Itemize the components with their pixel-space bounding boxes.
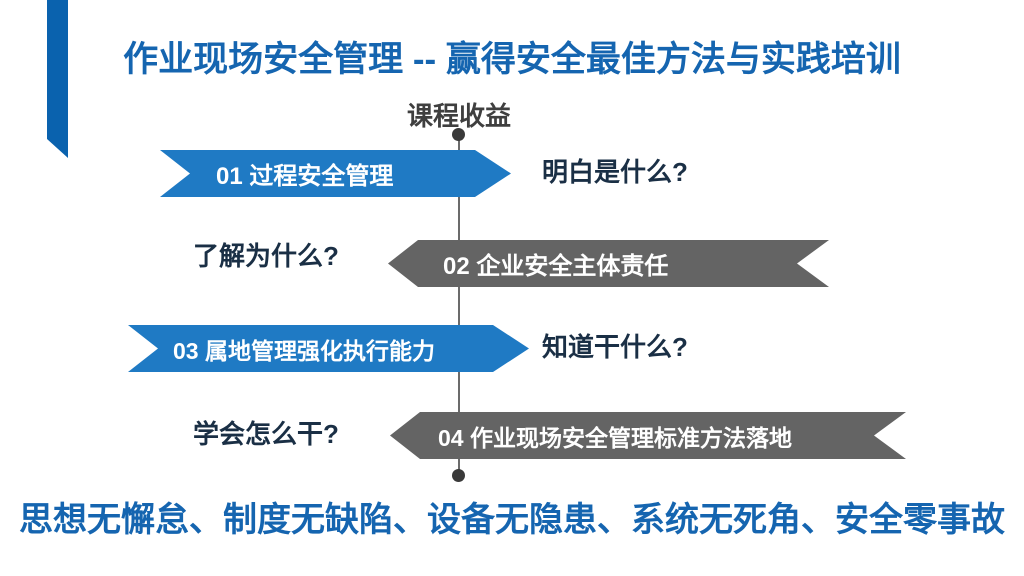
benefit-arrow-02[interactable]: 02 企业安全主体责任 bbox=[388, 240, 829, 287]
benefit-caption-02: 了解为什么? bbox=[193, 242, 363, 272]
benefit-arrow-03-label: 03 属地管理强化执行能力 bbox=[128, 332, 435, 366]
page-title-sub: 赢得安全最佳方法与实践培训 bbox=[446, 40, 901, 79]
bottom-slogan: 思想无懈怠、制度无缺陷、设备无隐患、系统无死角、安全零事故 bbox=[0, 492, 1024, 541]
spine-dot-top bbox=[452, 128, 465, 141]
slide-canvas: 作业现场安全管理 -- 赢得安全最佳方法与实践培训 课程收益 01 过程安全管理… bbox=[0, 0, 1024, 576]
benefit-caption-01: 明白是什么? bbox=[542, 158, 842, 188]
benefit-arrow-02-label: 02 企业安全主体责任 bbox=[388, 246, 668, 281]
benefit-arrow-04-label: 04 作业现场安全管理标准方法落地 bbox=[390, 419, 792, 453]
page-title-main: 作业现场安全管理 bbox=[123, 40, 403, 79]
spine-dot-bottom bbox=[452, 469, 465, 482]
page-title-separator: -- bbox=[403, 40, 446, 79]
benefit-arrow-04[interactable]: 04 作业现场安全管理标准方法落地 bbox=[390, 412, 906, 459]
benefit-arrow-03[interactable]: 03 属地管理强化执行能力 bbox=[128, 325, 529, 372]
benefit-caption-04: 学会怎么干? bbox=[193, 420, 393, 450]
benefit-arrow-01[interactable]: 01 过程安全管理 bbox=[160, 150, 511, 197]
page-title: 作业现场安全管理 -- 赢得安全最佳方法与实践培训 bbox=[0, 31, 1024, 82]
benefit-caption-03: 知道干什么? bbox=[542, 333, 842, 363]
benefit-arrow-01-label: 01 过程安全管理 bbox=[160, 156, 393, 191]
